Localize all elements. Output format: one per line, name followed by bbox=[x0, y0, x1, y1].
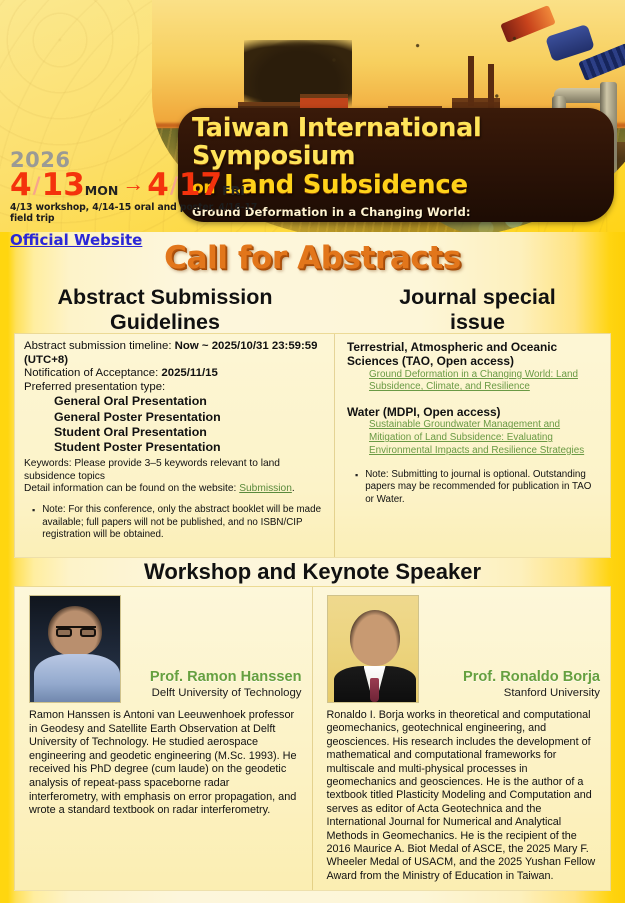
start-day: 13 bbox=[42, 169, 85, 201]
event-date-range: 4 / 13 MON → 4 / 17 FRI bbox=[10, 169, 260, 201]
speakers-heading: Workshop and Keynote Speaker bbox=[0, 559, 625, 585]
end-weekday: FRI bbox=[222, 184, 245, 201]
necktie-icon bbox=[370, 678, 379, 702]
start-weekday: MON bbox=[85, 184, 119, 201]
journal-special-issue-link[interactable]: Ground Deformation in a Changing World: … bbox=[347, 369, 600, 394]
detail-info-row: Detail information can be found on the w… bbox=[24, 483, 326, 495]
speaker-name-block: Prof. Ramon Hanssen Delft University of … bbox=[121, 668, 302, 703]
journal-panel: Terrestrial, Atmospheric and Oceanic Sci… bbox=[335, 334, 610, 557]
date-arrow-icon: → bbox=[118, 171, 147, 201]
submission-link[interactable]: Submission bbox=[239, 483, 292, 494]
presentation-type-item: General Poster Presentation bbox=[24, 410, 326, 425]
guidelines-heading-line2: Guidelines bbox=[16, 310, 314, 335]
start-month: 4 bbox=[10, 169, 32, 201]
bullet-icon: ▪ bbox=[24, 504, 35, 541]
guidelines-panel: Abstract submission timeline: Now ~ 2025… bbox=[15, 334, 335, 557]
column-headings: Abstract Submission Guidelines Journal s… bbox=[0, 285, 625, 335]
guidelines-heading: Abstract Submission Guidelines bbox=[0, 285, 330, 335]
schedule-note: 4/13 workshop, 4/14-15 oral and poster, … bbox=[10, 202, 260, 224]
speaker-header: Prof. Ramon Hanssen Delft University of … bbox=[29, 595, 302, 703]
guidelines-note: ▪ Note: For this conference, only the ab… bbox=[24, 504, 326, 541]
journal-name: Terrestrial, Atmospheric and Oceanic Sci… bbox=[347, 340, 600, 369]
speaker-name-block: Prof. Ronaldo Borja Stanford University bbox=[419, 668, 601, 703]
submission-timeline-row: Abstract submission timeline: Now ~ 2025… bbox=[24, 340, 326, 367]
notification-value: 2025/11/15 bbox=[161, 367, 217, 379]
presentation-type-item: Student Oral Presentation bbox=[24, 425, 326, 440]
title-land-subsidence: Land Subsidence bbox=[224, 170, 468, 200]
date-block: 2026 4 / 13 MON → 4 / 17 FRI 4/13 worksh… bbox=[10, 150, 260, 250]
conference-poster: Taiwan International Symposium on Land S… bbox=[0, 0, 625, 903]
speaker-affiliation: Stanford University bbox=[419, 686, 601, 701]
journal-note: ▪ Note: Submitting to journal is optiona… bbox=[347, 469, 600, 506]
keywords-text: Keywords: Please provide 3–5 keywords re… bbox=[24, 458, 326, 483]
satellite-body-icon bbox=[545, 24, 595, 62]
journal-note-text: Note: Submitting to journal is optional.… bbox=[365, 469, 600, 506]
speakers-panel: Prof. Ramon Hanssen Delft University of … bbox=[14, 586, 611, 891]
journal-name: Water (MDPI, Open access) bbox=[347, 405, 600, 419]
speaker-photo bbox=[327, 595, 419, 703]
timeline-label: Abstract submission timeline: bbox=[24, 340, 175, 352]
info-panels: Abstract submission timeline: Now ~ 2025… bbox=[14, 333, 611, 558]
speaker-name: Prof. Ramon Hanssen bbox=[121, 668, 302, 686]
spacer bbox=[347, 394, 600, 405]
preferred-type-label: Preferred presentation type: bbox=[24, 381, 326, 395]
speaker-bio: Ramon Hanssen is Antoni van Leeuwenhoek … bbox=[29, 709, 302, 818]
presentation-type-item: Student Poster Presentation bbox=[24, 440, 326, 455]
journal-heading-line1: Journal special bbox=[340, 285, 615, 310]
journal-special-issue-link[interactable]: Sustainable Groundwater Management and M… bbox=[347, 419, 600, 457]
speaker-card: Prof. Ramon Hanssen Delft University of … bbox=[15, 587, 313, 890]
end-day: 17 bbox=[179, 169, 222, 201]
speaker-name: Prof. Ronaldo Borja bbox=[419, 668, 601, 686]
detail-prefix: Detail information can be found on the w… bbox=[24, 483, 239, 494]
glasses-icon bbox=[56, 626, 96, 635]
speaker-bio: Ronaldo I. Borja works in theoretical an… bbox=[327, 709, 601, 883]
notification-label: Notification of Acceptance: bbox=[24, 367, 161, 379]
journal-heading-line2: issue bbox=[340, 310, 615, 335]
guidelines-heading-line1: Abstract Submission bbox=[16, 285, 314, 310]
date-slash: / bbox=[32, 174, 42, 201]
date-slash: / bbox=[169, 174, 179, 201]
speaker-affiliation: Delft University of Technology bbox=[121, 686, 302, 701]
bullet-icon: ▪ bbox=[347, 469, 358, 506]
end-month: 4 bbox=[147, 169, 169, 201]
speaker-card: Prof. Ronaldo Borja Stanford University … bbox=[313, 587, 611, 890]
speaker-photo bbox=[29, 595, 121, 703]
detail-suffix: . bbox=[292, 483, 295, 494]
call-for-abstracts-title: Call for Abstracts bbox=[0, 240, 625, 276]
presentation-type-item: General Oral Presentation bbox=[24, 394, 326, 409]
journal-heading: Journal special issue bbox=[330, 285, 625, 335]
speaker-header: Prof. Ronaldo Borja Stanford University bbox=[327, 595, 601, 703]
notification-row: Notification of Acceptance: 2025/11/15 bbox=[24, 367, 326, 381]
guidelines-note-text: Note: For this conference, only the abst… bbox=[42, 504, 326, 541]
